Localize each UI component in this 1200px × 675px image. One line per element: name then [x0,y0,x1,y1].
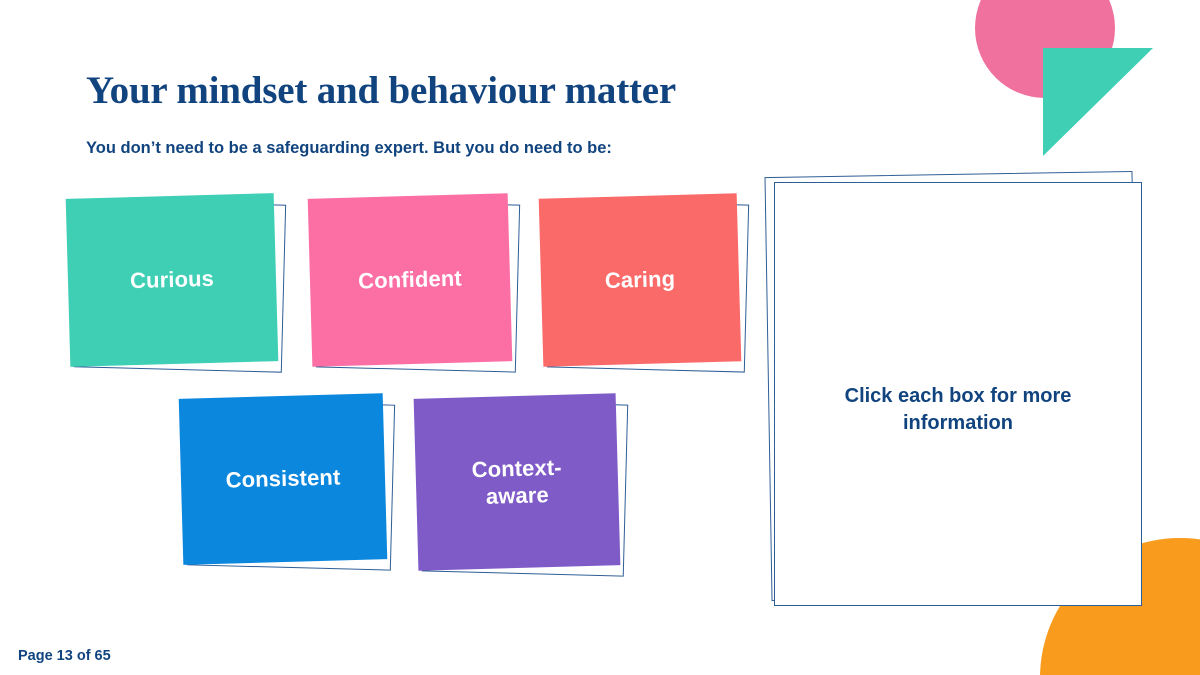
tile-label: Caring [598,265,681,295]
tile-face[interactable]: Curious [66,193,279,367]
tile-face[interactable]: Consistent [179,393,388,565]
tile-label: Confident [352,265,468,295]
page-number: Page 13 of 65 [18,648,111,664]
tile-face[interactable]: Context- aware [414,393,621,571]
tile-caring[interactable]: Caring [541,196,739,364]
tile-face[interactable]: Confident [308,193,513,367]
info-panel: Click each box for more information [774,182,1142,606]
page-subtitle: You don’t need to be a safeguarding expe… [86,139,612,158]
tile-face[interactable]: Caring [539,193,742,366]
page-title: Your mindset and behaviour matter [86,68,676,113]
tile-label: Consistent [219,464,346,495]
tile-confident[interactable]: Confident [310,196,510,364]
tile-consistent[interactable]: Consistent [181,396,385,562]
tile-label: Curious [124,265,221,295]
tile-curious[interactable]: Curious [68,196,276,364]
teal-triangle-icon [1043,48,1153,156]
info-panel-face: Click each box for more information [774,182,1142,606]
tile-label: Context- aware [465,453,568,510]
info-panel-text: Click each box for more information [823,383,1093,437]
slide-canvas: Your mindset and behaviour matter You do… [0,0,1200,675]
tile-context-aware[interactable]: Context- aware [416,396,618,568]
